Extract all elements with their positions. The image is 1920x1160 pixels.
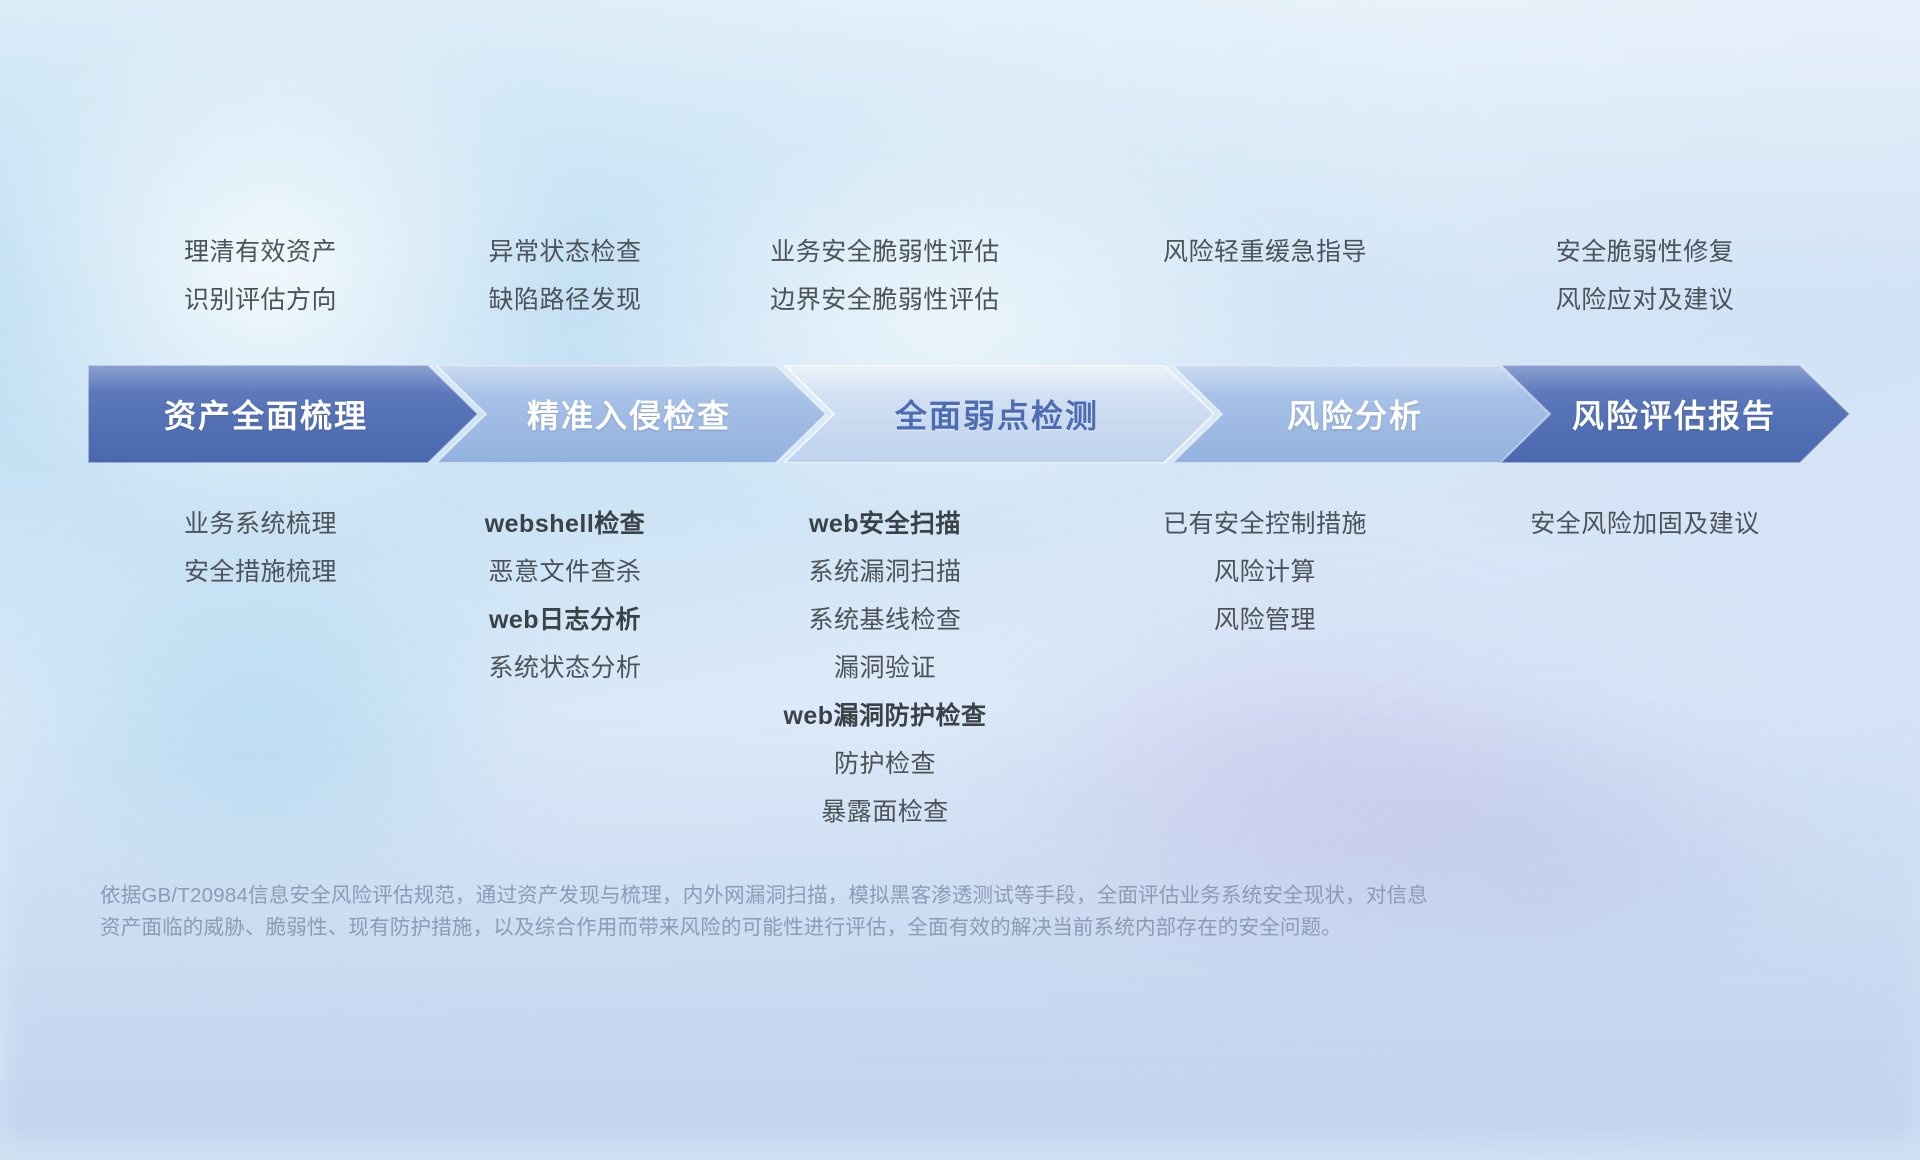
bottom-item: 防护检查 bbox=[695, 740, 1075, 788]
bottom-item: 安全风险加固及建议 bbox=[1430, 500, 1860, 548]
chevron-label-stage-4: 风险分析 bbox=[1287, 391, 1423, 437]
top-item: 异常状态检查 bbox=[405, 228, 725, 276]
top-item: 缺陷路径发现 bbox=[405, 276, 725, 324]
chevron-stage-4[interactable]: 风险分析 bbox=[1172, 365, 1552, 463]
bottom-item: 恶意文件查杀 bbox=[405, 548, 725, 596]
bottom-column-stage-3: web安全扫描 系统漏洞扫描 系统基线检查 漏洞验证 web漏洞防护检查 防护检… bbox=[695, 500, 1075, 836]
bottom-item: 安全措施梳理 bbox=[88, 548, 433, 596]
bottom-item: web漏洞防护检查 bbox=[695, 692, 1075, 740]
bottom-item: 风险管理 bbox=[1055, 596, 1475, 644]
top-column-stage-2: 异常状态检查 缺陷路径发现 bbox=[405, 228, 725, 324]
bottom-item: 漏洞验证 bbox=[695, 644, 1075, 692]
bottom-label-row: 业务系统梳理 安全措施梳理 webshell检查 恶意文件查杀 web日志分析 … bbox=[0, 500, 1920, 860]
chevron-stage-5[interactable]: 风险评估报告 bbox=[1500, 365, 1850, 463]
bottom-item: 业务系统梳理 bbox=[88, 500, 433, 548]
process-chevron-banner: 资产全面梳理 bbox=[88, 365, 1850, 463]
top-item: 安全脆弱性修复 bbox=[1430, 228, 1860, 276]
top-item: 边界安全脆弱性评估 bbox=[695, 276, 1075, 324]
chevron-label-stage-1: 资产全面梳理 bbox=[164, 391, 368, 437]
bottom-column-stage-1: 业务系统梳理 安全措施梳理 bbox=[88, 500, 433, 596]
top-column-stage-1: 理清有效资产 识别评估方向 bbox=[88, 228, 433, 324]
bottom-item: webshell检查 bbox=[405, 500, 725, 548]
bottom-item: 系统状态分析 bbox=[405, 644, 725, 692]
top-item: 风险轻重缓急指导 bbox=[1055, 228, 1475, 276]
caption-line-1: 依据GB/T20984信息安全风险评估规范，通过资产发现与梳理，内外网漏洞扫描，… bbox=[100, 880, 1740, 912]
top-column-stage-3: 业务安全脆弱性评估 边界安全脆弱性评估 bbox=[695, 228, 1075, 324]
chevron-label-stage-2: 精准入侵检查 bbox=[527, 391, 731, 437]
chevron-stage-3[interactable]: 全面弱点检测 bbox=[784, 365, 1214, 463]
bottom-item: 系统漏洞扫描 bbox=[695, 548, 1075, 596]
bottom-item: web日志分析 bbox=[405, 596, 725, 644]
bottom-column-stage-2: webshell检查 恶意文件查杀 web日志分析 系统状态分析 bbox=[405, 500, 725, 692]
bottom-item: 风险计算 bbox=[1055, 548, 1475, 596]
bottom-column-stage-4: 已有安全控制措施 风险计算 风险管理 bbox=[1055, 500, 1475, 644]
top-item: 风险应对及建议 bbox=[1430, 276, 1860, 324]
footer-caption: 依据GB/T20984信息安全风险评估规范，通过资产发现与梳理，内外网漏洞扫描，… bbox=[100, 880, 1740, 944]
bottom-item: 系统基线检查 bbox=[695, 596, 1075, 644]
top-item: 业务安全脆弱性评估 bbox=[695, 228, 1075, 276]
top-item: 理清有效资产 bbox=[88, 228, 433, 276]
chevron-stage-2[interactable]: 精准入侵检查 bbox=[436, 365, 826, 463]
bottom-item: web安全扫描 bbox=[695, 500, 1075, 548]
diagram-stage: 理清有效资产 识别评估方向 异常状态检查 缺陷路径发现 业务安全脆弱性评估 边界… bbox=[0, 0, 1920, 1080]
chevron-label-stage-3: 全面弱点检测 bbox=[895, 391, 1099, 437]
chevron-stage-1[interactable]: 资产全面梳理 bbox=[88, 365, 478, 463]
top-label-row: 理清有效资产 识别评估方向 异常状态检查 缺陷路径发现 业务安全脆弱性评估 边界… bbox=[0, 228, 1920, 338]
bottom-item: 已有安全控制措施 bbox=[1055, 500, 1475, 548]
chevron-label-stage-5: 风险评估报告 bbox=[1572, 391, 1776, 437]
bottom-column-stage-5: 安全风险加固及建议 bbox=[1430, 500, 1860, 548]
top-item: 识别评估方向 bbox=[88, 276, 433, 324]
top-column-stage-4: 风险轻重缓急指导 bbox=[1055, 228, 1475, 276]
caption-line-2: 资产面临的威胁、脆弱性、现有防护措施，以及综合作用而带来风险的可能性进行评估，全… bbox=[100, 912, 1740, 944]
bottom-item: 暴露面检查 bbox=[695, 788, 1075, 836]
top-column-stage-5: 安全脆弱性修复 风险应对及建议 bbox=[1430, 228, 1860, 324]
